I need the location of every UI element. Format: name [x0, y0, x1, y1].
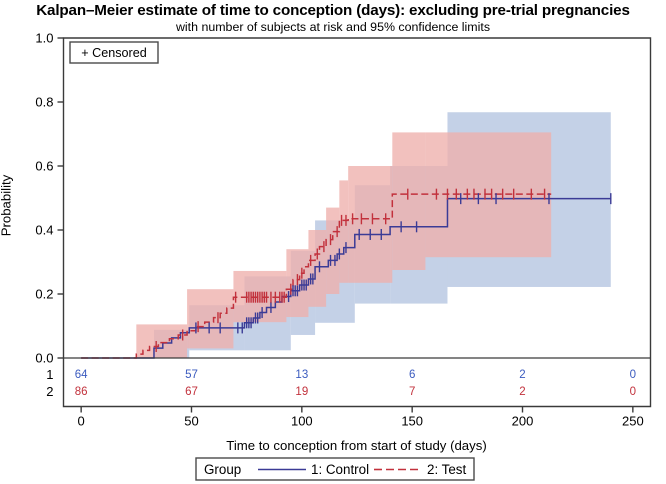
x-tick-label: 200 — [512, 414, 534, 429]
at-risk-row-label: 1 — [46, 367, 53, 382]
plot-canvas: 0.00.20.40.60.81.0050100150200250 164571… — [0, 0, 666, 484]
chart-root: Kalpan–Meier estimate of time to concept… — [0, 0, 666, 484]
group-legend: Group1: Control2: Test — [196, 458, 474, 480]
at-risk-value: 57 — [185, 369, 198, 381]
at-risk-table: 16457136202866719720 — [46, 367, 636, 399]
legend-title: Group — [204, 462, 241, 477]
at-risk-value: 67 — [185, 386, 198, 398]
at-risk-value: 64 — [75, 369, 88, 381]
band-step — [339, 180, 348, 282]
y-tick-label: 0.4 — [35, 223, 53, 238]
at-risk-value: 2 — [519, 369, 525, 381]
x-tick-label: 100 — [291, 414, 313, 429]
at-risk-value: 19 — [295, 386, 308, 398]
band-step — [326, 208, 339, 294]
x-tick-label: 250 — [622, 414, 644, 429]
censored-box-label: + Censored — [81, 46, 146, 60]
at-risk-value: 0 — [630, 386, 636, 398]
y-tick-label: 1.0 — [35, 31, 53, 46]
at-risk-value: 7 — [409, 386, 415, 398]
y-tick-label: 0.6 — [35, 159, 53, 174]
at-risk-row-label: 2 — [46, 384, 53, 399]
x-tick-label: 0 — [78, 414, 85, 429]
x-tick-label: 50 — [184, 414, 198, 429]
censored-legend-box: + Censored — [70, 42, 158, 63]
band-step — [136, 324, 187, 358]
band-step — [348, 166, 392, 283]
legend-label-test: 2: Test — [427, 462, 466, 477]
y-tick-label: 0.8 — [35, 95, 53, 110]
at-risk-value: 6 — [409, 369, 415, 381]
y-tick-label: 0.2 — [35, 287, 53, 302]
band-step — [187, 289, 233, 348]
at-risk-value: 13 — [295, 369, 308, 381]
legend-label-control: 1: Control — [311, 462, 369, 477]
x-tick-label: 150 — [401, 414, 423, 429]
at-risk-value: 2 — [519, 386, 525, 398]
at-risk-value: 0 — [630, 369, 636, 381]
y-tick-label: 0.0 — [35, 351, 53, 366]
at-risk-value: 86 — [75, 386, 88, 398]
band-step — [392, 132, 425, 270]
